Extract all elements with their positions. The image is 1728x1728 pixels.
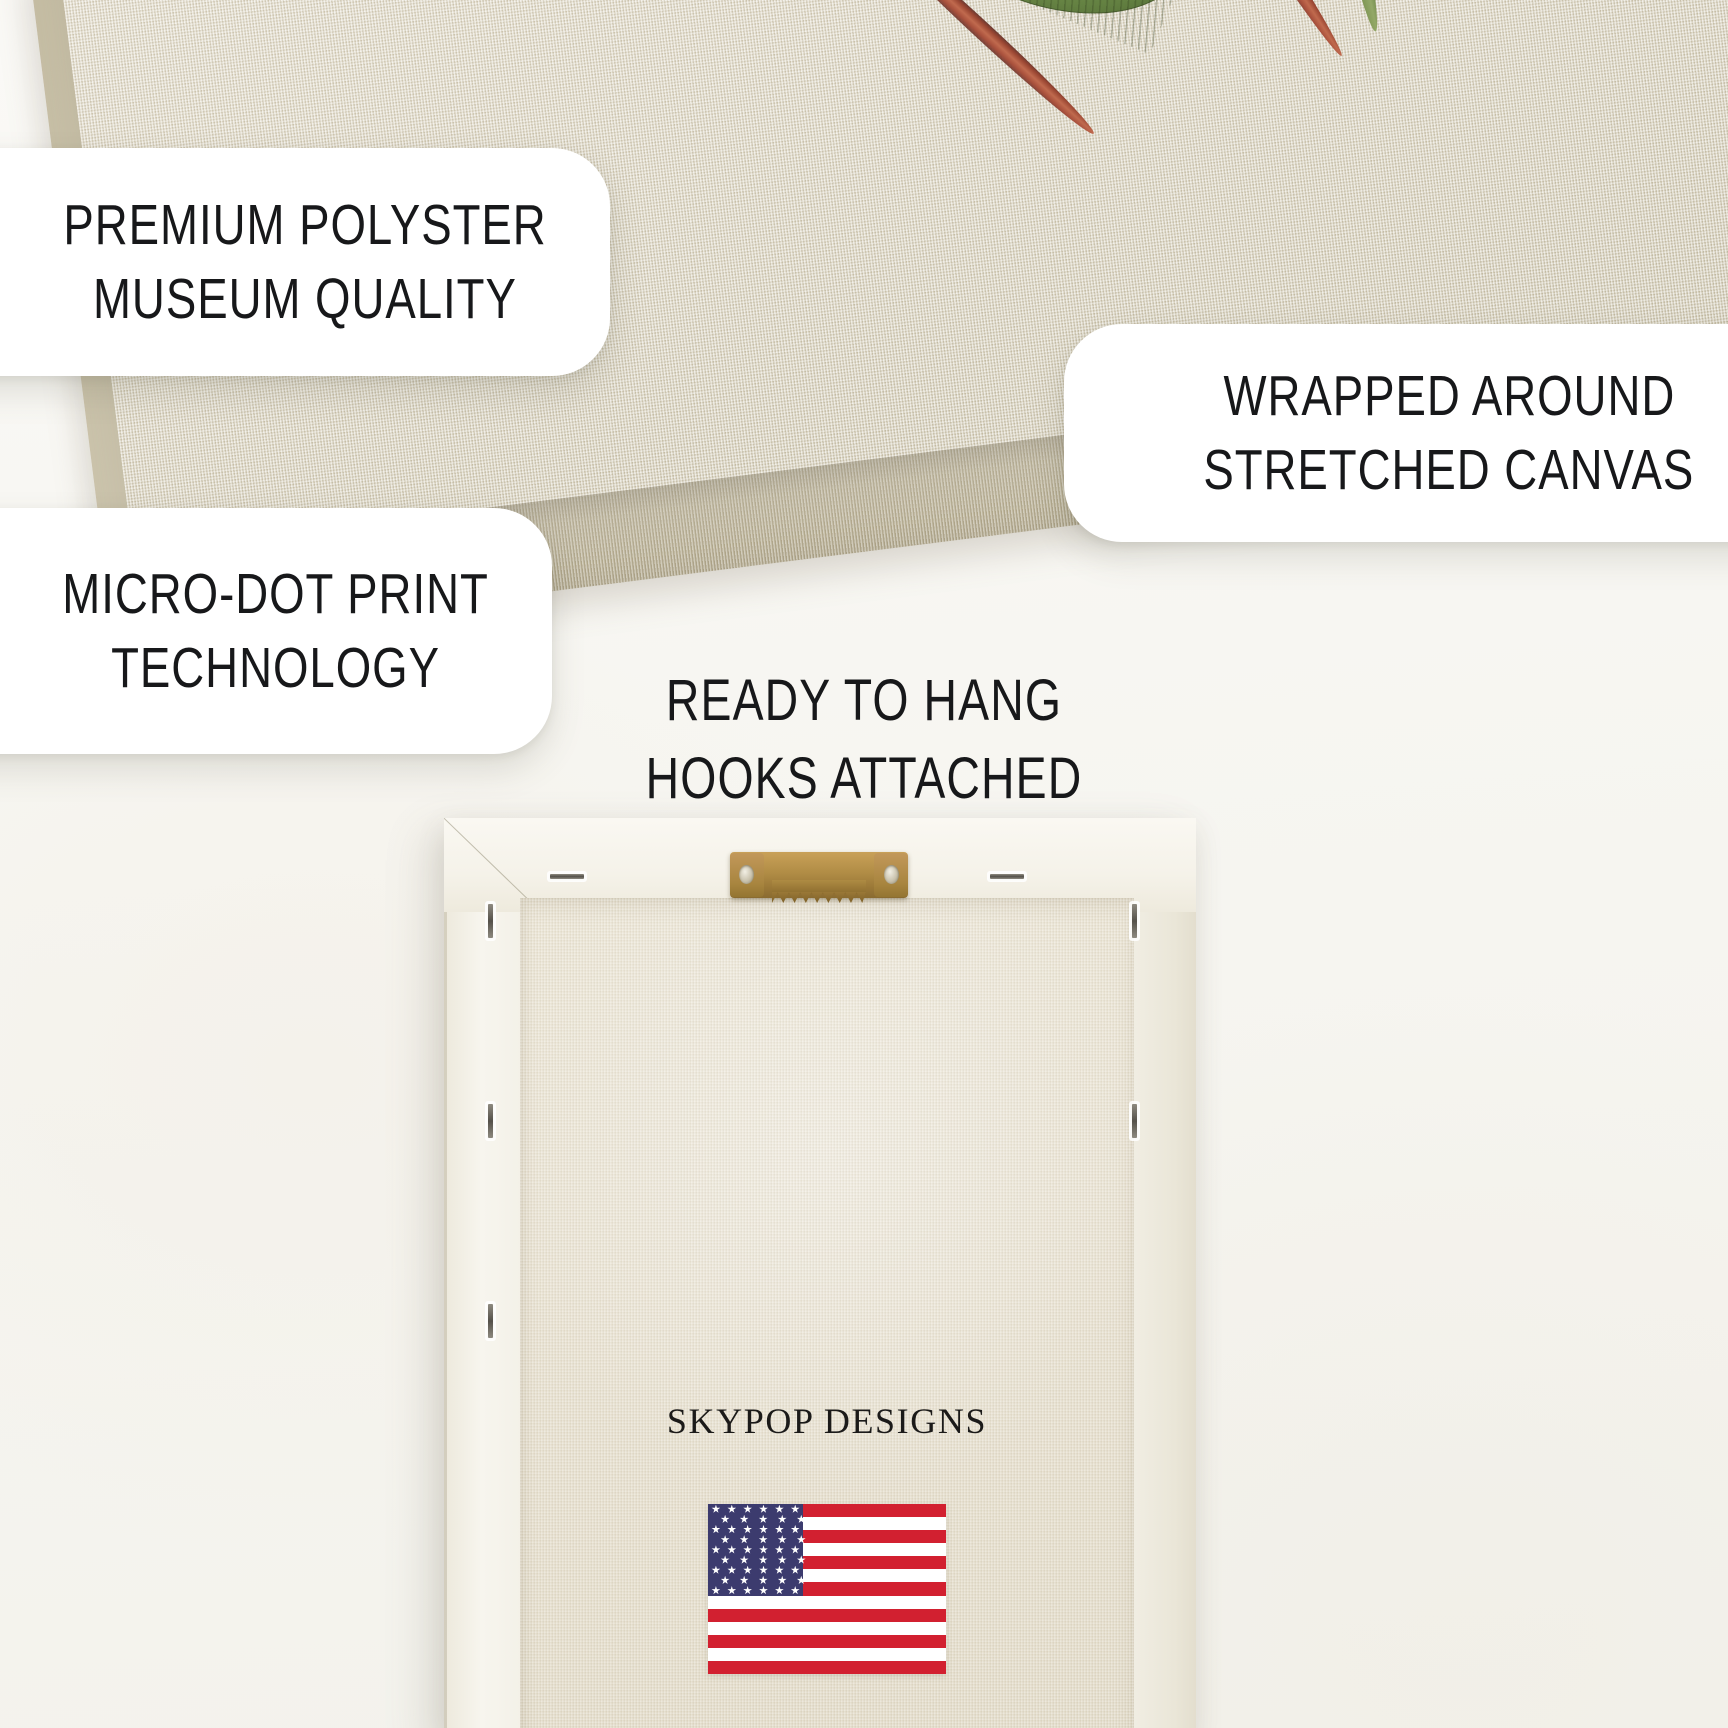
flag-star-icon xyxy=(775,1545,784,1554)
flag-star-icon xyxy=(740,1555,749,1564)
hanger-screw-hole-left xyxy=(739,865,754,884)
flag-star-icon xyxy=(740,1576,749,1585)
flag-star-icon xyxy=(759,1545,768,1554)
flag-star-icon xyxy=(727,1566,736,1575)
canvas-back-mockup: SKYPOP DESIGNS xyxy=(444,818,1196,1728)
flag-star-icon xyxy=(743,1505,752,1514)
flag-star-icon xyxy=(743,1545,752,1554)
flag-star-icon xyxy=(759,1555,768,1564)
flag-star-icon xyxy=(740,1515,749,1524)
badge-premium-line1: PREMIUM POLYSTER xyxy=(63,188,546,262)
flag-star-icon xyxy=(743,1566,752,1575)
flag-star-row xyxy=(708,1524,803,1534)
staple xyxy=(488,1104,493,1138)
flag-star-icon xyxy=(727,1545,736,1554)
staple xyxy=(990,874,1024,879)
flag-star-icon xyxy=(740,1535,749,1544)
flag-star-icon xyxy=(759,1515,768,1524)
flag-star-icon xyxy=(778,1576,787,1585)
flag-star-icon xyxy=(791,1505,800,1514)
flag-star-icon xyxy=(791,1525,800,1534)
badge-micro-dot-print: MICRO-DOT PRINT TECHNOLOGY xyxy=(0,508,552,754)
flag-star-row xyxy=(708,1585,803,1595)
badge-micro-line1: MICRO-DOT PRINT xyxy=(63,557,489,631)
flag-star-row xyxy=(708,1575,818,1585)
flag-star-icon xyxy=(775,1566,784,1575)
flag-star-icon xyxy=(711,1505,720,1514)
flag-star-icon xyxy=(759,1505,768,1514)
flag-star-icon xyxy=(711,1566,720,1575)
flag-star-icon xyxy=(778,1535,787,1544)
badge-premium-polyster: PREMIUM POLYSTER MUSEUM QUALITY xyxy=(0,148,610,376)
flag-star-icon xyxy=(743,1525,752,1534)
flag-star-icon xyxy=(721,1555,730,1564)
flag-canton xyxy=(708,1504,803,1596)
flag-star-icon xyxy=(721,1535,730,1544)
staple xyxy=(550,874,584,879)
flag-star-row xyxy=(708,1535,818,1545)
flag-stripe xyxy=(708,1661,946,1674)
flag-stripe xyxy=(708,1635,946,1648)
flag-star-icon xyxy=(778,1515,787,1524)
flag-star-icon xyxy=(721,1515,730,1524)
flag-star-icon xyxy=(791,1545,800,1554)
hanger-teeth xyxy=(772,880,866,894)
badge-micro-line2: TECHNOLOGY xyxy=(112,631,441,705)
flag-star-icon xyxy=(797,1535,806,1544)
canvas-rim-right xyxy=(1124,818,1196,1728)
flag-stripe xyxy=(708,1648,946,1661)
flag-star-icon xyxy=(711,1545,720,1554)
flag-star-icon xyxy=(727,1505,736,1514)
flag-star-icon xyxy=(711,1525,720,1534)
flag-star-icon xyxy=(797,1576,806,1585)
flag-star-row xyxy=(708,1504,803,1514)
flag-star-icon xyxy=(759,1525,768,1534)
staple xyxy=(1132,904,1137,938)
badge-wrapped-line2: STRETCHED CANVAS xyxy=(1204,433,1695,507)
flag-star-icon xyxy=(759,1566,768,1575)
flag-star-icon xyxy=(759,1586,768,1595)
flag-star-icon xyxy=(721,1576,730,1585)
flag-star-row xyxy=(708,1514,818,1524)
flag-star-icon xyxy=(778,1555,787,1564)
stem-red-icon xyxy=(867,0,1099,140)
leaf-icon xyxy=(872,0,1213,56)
flag-stripe xyxy=(708,1609,946,1622)
flag-star-icon xyxy=(797,1515,806,1524)
staple xyxy=(488,1304,493,1338)
flag-star-icon xyxy=(797,1555,806,1564)
badge-premium-line2: MUSEUM QUALITY xyxy=(93,262,517,336)
staple xyxy=(1132,1104,1137,1138)
flag-star-icon xyxy=(759,1576,768,1585)
flag-stripe xyxy=(708,1596,946,1609)
flag-star-icon xyxy=(727,1525,736,1534)
product-feature-graphic: PREMIUM POLYSTER MUSEUM QUALITY WRAPPED … xyxy=(0,0,1728,1728)
flag-star-icon xyxy=(791,1586,800,1595)
inner-canvas-surface: SKYPOP DESIGNS xyxy=(520,898,1134,1728)
flag-star-row xyxy=(708,1555,818,1565)
flag-star-icon xyxy=(775,1525,784,1534)
flag-star-icon xyxy=(775,1505,784,1514)
flag-star-row xyxy=(708,1565,803,1575)
badge-wrapped-around: WRAPPED AROUND STRETCHED CANVAS xyxy=(1064,324,1728,542)
sawtooth-hanger-icon xyxy=(730,852,908,898)
badge-wrapped-line1: WRAPPED AROUND xyxy=(1223,359,1675,433)
us-flag-icon xyxy=(708,1504,946,1674)
hanger-screw-hole-right xyxy=(884,865,899,884)
brand-name: SKYPOP DESIGNS xyxy=(667,1400,987,1442)
flag-star-row xyxy=(708,1545,803,1555)
flag-star-icon xyxy=(743,1586,752,1595)
flag-star-icon xyxy=(791,1566,800,1575)
staple xyxy=(488,904,493,938)
flag-star-icon xyxy=(711,1586,720,1595)
flag-star-icon xyxy=(775,1586,784,1595)
flag-stripe xyxy=(708,1622,946,1635)
flag-star-icon xyxy=(759,1535,768,1544)
flag-star-icon xyxy=(727,1586,736,1595)
